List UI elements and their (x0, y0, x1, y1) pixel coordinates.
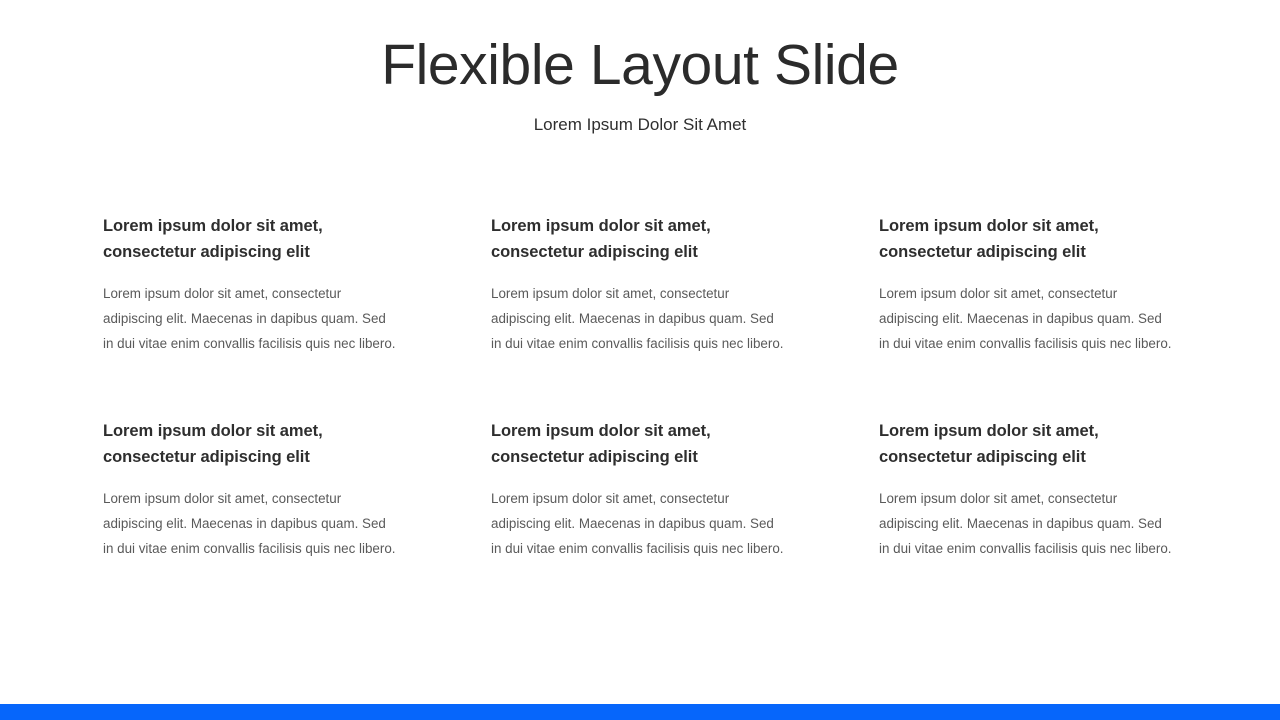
cell-body: Lorem ipsum dolor sit amet, consectetur … (879, 265, 1175, 356)
slide-title: Flexible Layout Slide (0, 0, 1280, 98)
slide-subtitle: Lorem Ipsum Dolor Sit Amet (0, 98, 1280, 135)
cell-heading: Lorem ipsum dolor sit amet, consectetur … (879, 418, 1175, 470)
cell-heading: Lorem ipsum dolor sit amet, consectetur … (491, 418, 787, 470)
footer-accent-bar (0, 704, 1280, 720)
content-cell: Lorem ipsum dolor sit amet, consectetur … (103, 213, 399, 356)
cell-heading: Lorem ipsum dolor sit amet, consectetur … (491, 213, 787, 265)
cell-heading: Lorem ipsum dolor sit amet, consectetur … (103, 418, 399, 470)
cell-body: Lorem ipsum dolor sit amet, consectetur … (103, 265, 399, 356)
content-cell: Lorem ipsum dolor sit amet, consectetur … (879, 213, 1175, 356)
cell-body: Lorem ipsum dolor sit amet, consectetur … (103, 470, 399, 561)
content-grid: Lorem ipsum dolor sit amet, consectetur … (103, 213, 1193, 561)
content-cell: Lorem ipsum dolor sit amet, consectetur … (879, 418, 1175, 561)
cell-body: Lorem ipsum dolor sit amet, consectetur … (491, 470, 787, 561)
cell-body: Lorem ipsum dolor sit amet, consectetur … (491, 265, 787, 356)
cell-body: Lorem ipsum dolor sit amet, consectetur … (879, 470, 1175, 561)
content-cell: Lorem ipsum dolor sit amet, consectetur … (491, 213, 787, 356)
content-cell: Lorem ipsum dolor sit amet, consectetur … (103, 418, 399, 561)
content-cell: Lorem ipsum dolor sit amet, consectetur … (491, 418, 787, 561)
slide-header: Flexible Layout Slide Lorem Ipsum Dolor … (0, 0, 1280, 135)
presentation-slide: Flexible Layout Slide Lorem Ipsum Dolor … (0, 0, 1280, 720)
cell-heading: Lorem ipsum dolor sit amet, consectetur … (103, 213, 399, 265)
cell-heading: Lorem ipsum dolor sit amet, consectetur … (879, 213, 1175, 265)
